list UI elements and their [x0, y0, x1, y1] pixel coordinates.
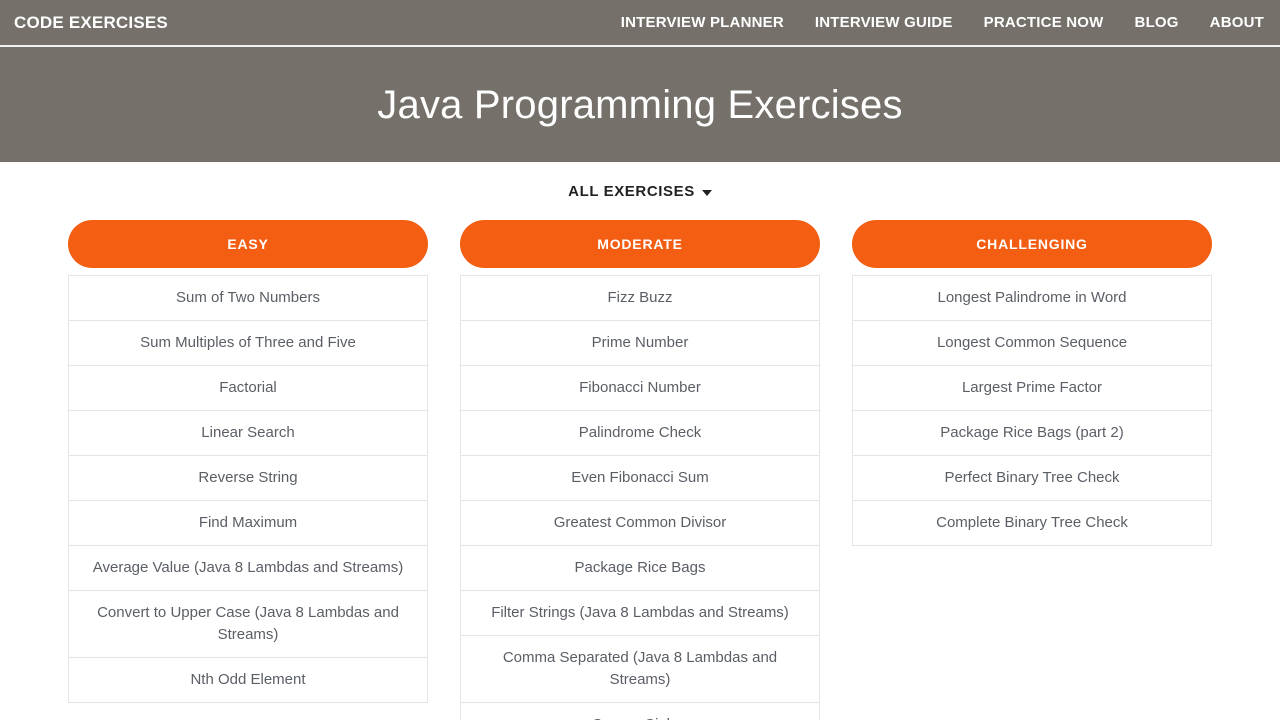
- exercise-link[interactable]: Fibonacci Number: [473, 377, 807, 399]
- exercise-link[interactable]: Package Rice Bags (part 2): [865, 422, 1199, 444]
- nav-link-interview-guide[interactable]: INTERVIEW GUIDE: [815, 14, 953, 31]
- list-item[interactable]: Package Rice Bags: [461, 546, 819, 591]
- exercise-list: Longest Palindrome in WordLongest Common…: [852, 275, 1212, 546]
- exercise-link[interactable]: Package Rice Bags: [473, 557, 807, 579]
- exercise-link[interactable]: Caesar Cipher: [473, 714, 807, 720]
- hero-banner: Java Programming Exercises: [0, 47, 1280, 162]
- list-item[interactable]: Even Fibonacci Sum: [461, 456, 819, 501]
- exercise-link[interactable]: Reverse String: [81, 467, 415, 489]
- exercise-link[interactable]: Linear Search: [81, 422, 415, 444]
- main-content: ALL EXERCISES EASYSum of Two NumbersSum …: [0, 162, 1280, 720]
- exercise-link[interactable]: Even Fibonacci Sum: [473, 467, 807, 489]
- exercise-link[interactable]: Largest Prime Factor: [865, 377, 1199, 399]
- list-item[interactable]: Perfect Binary Tree Check: [853, 456, 1211, 501]
- list-item[interactable]: Convert to Upper Case (Java 8 Lambdas an…: [69, 591, 427, 658]
- list-item[interactable]: Filter Strings (Java 8 Lambdas and Strea…: [461, 591, 819, 636]
- list-item[interactable]: Longest Palindrome in Word: [853, 276, 1211, 321]
- exercise-list: Sum of Two NumbersSum Multiples of Three…: [68, 275, 428, 703]
- list-item[interactable]: Average Value (Java 8 Lambdas and Stream…: [69, 546, 427, 591]
- exercise-link[interactable]: Average Value (Java 8 Lambdas and Stream…: [81, 557, 415, 579]
- exercise-link[interactable]: Longest Palindrome in Word: [865, 287, 1199, 309]
- list-item[interactable]: Fibonacci Number: [461, 366, 819, 411]
- exercise-link[interactable]: Nth Odd Element: [81, 669, 415, 691]
- exercise-link[interactable]: Comma Separated (Java 8 Lambdas and Stre…: [473, 647, 807, 691]
- list-item[interactable]: Greatest Common Divisor: [461, 501, 819, 546]
- list-item[interactable]: Longest Common Sequence: [853, 321, 1211, 366]
- list-item[interactable]: Largest Prime Factor: [853, 366, 1211, 411]
- exercise-link[interactable]: Greatest Common Divisor: [473, 512, 807, 534]
- chevron-down-icon: [702, 190, 712, 196]
- exercise-link[interactable]: Fizz Buzz: [473, 287, 807, 309]
- site-brand-logo[interactable]: CODE EXERCISES: [14, 13, 168, 33]
- exercise-link[interactable]: Convert to Upper Case (Java 8 Lambdas an…: [81, 602, 415, 646]
- exercise-link[interactable]: Palindrome Check: [473, 422, 807, 444]
- list-item[interactable]: Package Rice Bags (part 2): [853, 411, 1211, 456]
- list-item[interactable]: Linear Search: [69, 411, 427, 456]
- exercise-column: MODERATEFizz BuzzPrime NumberFibonacci N…: [460, 220, 820, 720]
- filter-row: ALL EXERCISES: [0, 162, 1280, 220]
- top-navigation-bar: CODE EXERCISES INTERVIEW PLANNERINTERVIE…: [0, 0, 1280, 47]
- list-item[interactable]: Fizz Buzz: [461, 276, 819, 321]
- column-header-moderate[interactable]: MODERATE: [460, 220, 820, 268]
- list-item[interactable]: Nth Odd Element: [69, 658, 427, 703]
- list-item[interactable]: Factorial: [69, 366, 427, 411]
- list-item[interactable]: Find Maximum: [69, 501, 427, 546]
- nav-link-about[interactable]: ABOUT: [1210, 14, 1264, 31]
- exercise-link[interactable]: Filter Strings (Java 8 Lambdas and Strea…: [473, 602, 807, 624]
- exercise-column: CHALLENGINGLongest Palindrome in WordLon…: [852, 220, 1212, 720]
- list-item[interactable]: Comma Separated (Java 8 Lambdas and Stre…: [461, 636, 819, 703]
- exercise-column: EASYSum of Two NumbersSum Multiples of T…: [68, 220, 428, 720]
- list-item[interactable]: Caesar Cipher: [461, 703, 819, 720]
- nav-links-group: INTERVIEW PLANNERINTERVIEW GUIDEPRACTICE…: [621, 14, 1266, 31]
- exercise-link[interactable]: Find Maximum: [81, 512, 415, 534]
- exercise-link[interactable]: Complete Binary Tree Check: [865, 512, 1199, 534]
- exercise-link[interactable]: Prime Number: [473, 332, 807, 354]
- exercise-link[interactable]: Perfect Binary Tree Check: [865, 467, 1199, 489]
- list-item[interactable]: Prime Number: [461, 321, 819, 366]
- exercise-link[interactable]: Factorial: [81, 377, 415, 399]
- nav-link-practice-now[interactable]: PRACTICE NOW: [984, 14, 1104, 31]
- page-title: Java Programming Exercises: [377, 83, 902, 127]
- exercise-link[interactable]: Sum Multiples of Three and Five: [81, 332, 415, 354]
- list-item[interactable]: Sum of Two Numbers: [69, 276, 427, 321]
- all-exercises-dropdown-toggle[interactable]: ALL EXERCISES: [568, 183, 712, 200]
- nav-link-blog[interactable]: BLOG: [1135, 14, 1179, 31]
- column-header-easy[interactable]: EASY: [68, 220, 428, 268]
- list-item[interactable]: Complete Binary Tree Check: [853, 501, 1211, 546]
- list-item[interactable]: Sum Multiples of Three and Five: [69, 321, 427, 366]
- list-item[interactable]: Palindrome Check: [461, 411, 819, 456]
- nav-link-interview-planner[interactable]: INTERVIEW PLANNER: [621, 14, 784, 31]
- exercise-columns: EASYSum of Two NumbersSum Multiples of T…: [0, 220, 1280, 720]
- list-item[interactable]: Reverse String: [69, 456, 427, 501]
- exercise-list: Fizz BuzzPrime NumberFibonacci NumberPal…: [460, 275, 820, 720]
- exercise-link[interactable]: Sum of Two Numbers: [81, 287, 415, 309]
- column-header-challenging[interactable]: CHALLENGING: [852, 220, 1212, 268]
- exercise-link[interactable]: Longest Common Sequence: [865, 332, 1199, 354]
- all-exercises-label: ALL EXERCISES: [568, 183, 695, 200]
